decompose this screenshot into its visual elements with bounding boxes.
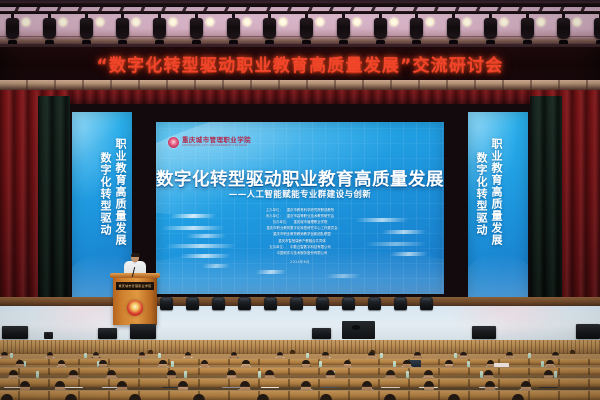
ceiling [0, 0, 600, 46]
floor-light [290, 297, 303, 310]
hall-banner: “数字化转型驱动职业教育高质量发展”交流研讨会 [0, 47, 600, 80]
floor-light [394, 297, 407, 310]
seat-row [0, 390, 600, 400]
light-glow [424, 16, 436, 28]
attendee-head [257, 394, 269, 400]
light-glow [20, 16, 32, 28]
stage-light [263, 13, 276, 43]
organizer-line: 主办单位：重庆市教育科学研究院职成教所 [266, 208, 334, 213]
monitor-speaker [312, 328, 331, 339]
podium-name-band: 重庆城市管理职业学院 [116, 282, 154, 290]
floor-light [212, 297, 225, 310]
stage-light [227, 13, 240, 43]
monitor-speaker [98, 328, 117, 339]
side-panel-line-main: 职业教育高质量发展 [489, 138, 502, 246]
monitor-speaker [576, 324, 600, 339]
college-name-en: CHONGQING CITY MANAGEMENT COLLEGE [182, 145, 251, 148]
organizer-label: 承办单位： [266, 214, 283, 219]
organizer-line: 重庆市智慧康养产教融合共同体 [274, 239, 325, 244]
floor-glow-right [444, 300, 574, 342]
light-glow [241, 16, 253, 28]
light-glow [167, 16, 179, 28]
light-glow [571, 16, 583, 28]
stage-light [594, 13, 600, 43]
light-glow [535, 16, 547, 28]
stage-light [153, 13, 166, 43]
water-bottle [184, 371, 187, 378]
side-panel-text-left: 职业教育高质量发展 数字化转型驱动 [98, 138, 126, 246]
attendee-head [512, 394, 524, 400]
organizer-label: 主办单位： [266, 208, 283, 213]
floor-light [420, 297, 433, 310]
organizer-value: 中国软件与技术服务股份有限公司 [277, 251, 328, 256]
college-crest-icon [168, 137, 179, 148]
side-panel-line-main: 职业教育高质量发展 [113, 138, 126, 246]
audience-area [0, 354, 600, 400]
floor-light [186, 297, 199, 310]
stage-light [557, 13, 570, 43]
stage-light [43, 13, 56, 43]
college-logo-text: 重庆城市管理职业学院 CHONGQING CITY MANAGEMENT COL… [182, 137, 251, 147]
organizer-value: 中数云智数字科技有限公司 [290, 245, 331, 250]
organizer-line: 重庆市职业教育教师教学创新团队联盟 [269, 232, 331, 237]
organizer-value: 重庆市教育科学研究院职成教所 [287, 208, 334, 213]
podium: 重庆城市管理职业学院 [113, 276, 157, 325]
organizer-label: 协办单位： [273, 220, 290, 225]
stage-light [447, 13, 460, 43]
monitor-speaker [472, 326, 496, 339]
stage-light [116, 13, 129, 43]
water-bottle [36, 371, 39, 378]
organizer-value: 重庆城市管理职业学院 [294, 220, 328, 225]
organizer-label: 支持单位： [269, 245, 286, 250]
stage-box [44, 332, 53, 339]
stage-light [484, 13, 497, 43]
organizer-value: 重庆市高等职业技术教育研究会 [287, 214, 334, 219]
stage-light [300, 13, 313, 43]
seat-row [0, 367, 600, 375]
organizer-line: 协办单位：重庆城市管理职业学院 [273, 220, 328, 225]
light-glow [461, 16, 473, 28]
light-glow [388, 16, 400, 28]
water-bottle [406, 371, 409, 378]
event-date: 2024年6月 [290, 260, 310, 265]
light-glow [351, 16, 363, 28]
main-led-screen: 重庆城市管理职业学院 CHONGQING CITY MANAGEMENT COL… [156, 122, 444, 294]
floor-light [316, 297, 329, 310]
screen-subtitle: ——人工智能赋能专业群建设与创新 [156, 188, 444, 200]
stage-light [337, 13, 350, 43]
podium-name-text: 重庆城市管理职业学院 [118, 284, 151, 288]
organizer-line: 中国软件与技术服务股份有限公司 [273, 251, 328, 256]
floor-light [342, 297, 355, 310]
auditorium-photo: “数字化转型驱动职业教育高质量发展”交流研讨会 职业教育高质量发展 数字化转型驱… [0, 0, 600, 400]
organizer-value: 重庆市职业教育数字化转型研究中心工作委员会 [266, 226, 337, 231]
organizer-line: 重庆市职业教育数字化转型研究中心工作委员会 [262, 226, 337, 231]
light-glow [94, 16, 106, 28]
light-glow [204, 16, 216, 28]
stage-light [6, 13, 19, 43]
curtain-dark-left [38, 96, 70, 324]
seat-row [0, 378, 600, 387]
light-glow [314, 16, 326, 28]
curtain-dark-right [530, 96, 562, 324]
curtain-valance [0, 90, 600, 104]
stage-light [80, 13, 93, 43]
floor-light [264, 297, 277, 310]
floor-light [368, 297, 381, 310]
presenter-hair [131, 253, 140, 258]
subwoofer [342, 321, 375, 339]
organizer-value: 重庆市智慧康养产教融合共同体 [278, 239, 325, 244]
led-panel-right: 职业教育高质量发展 数字化转型驱动 [468, 112, 528, 304]
floor-light [160, 297, 173, 310]
stage-light [190, 13, 203, 43]
attendee-head [193, 394, 205, 400]
organizer-list: 主办单位：重庆市教育科学研究院职成教所承办单位：重庆市高等职业技术教育研究会协办… [156, 208, 444, 265]
monitor-speaker [130, 324, 156, 339]
hall-banner-text: “数字化转型驱动职业教育高质量发展”交流研讨会 [97, 51, 504, 76]
organizer-line: 支持单位：中数云智数字科技有限公司 [269, 245, 331, 250]
side-panel-text-right: 职业教育高质量发展 数字化转型驱动 [474, 138, 502, 246]
college-name-cn: 重庆城市管理职业学院 [182, 137, 251, 144]
side-panel-line-sub: 数字化转型驱动 [474, 152, 487, 246]
seat-row [0, 358, 600, 365]
attendee-head [129, 394, 141, 400]
stage-light [410, 13, 423, 43]
water-bottle [258, 371, 261, 378]
attendee-head [1, 394, 13, 400]
floor-light [238, 297, 251, 310]
attendee-head [65, 394, 77, 400]
college-logo: 重庆城市管理职业学院 CHONGQING CITY MANAGEMENT COL… [168, 137, 251, 148]
stage-light [374, 13, 387, 43]
light-glow [277, 16, 289, 28]
light-glow [130, 16, 142, 28]
podium-top-surface [110, 273, 160, 278]
light-glow [498, 16, 510, 28]
podium-crest-icon [127, 300, 143, 316]
organizer-line: 承办单位：重庆市高等职业技术教育研究会 [266, 214, 334, 219]
light-glow [57, 16, 69, 28]
organizer-value: 重庆市职业教育教师教学创新团队联盟 [273, 232, 331, 237]
side-panel-line-sub: 数字化转型驱动 [98, 152, 111, 246]
monitor-speaker [2, 326, 28, 339]
stage-light [521, 13, 534, 43]
